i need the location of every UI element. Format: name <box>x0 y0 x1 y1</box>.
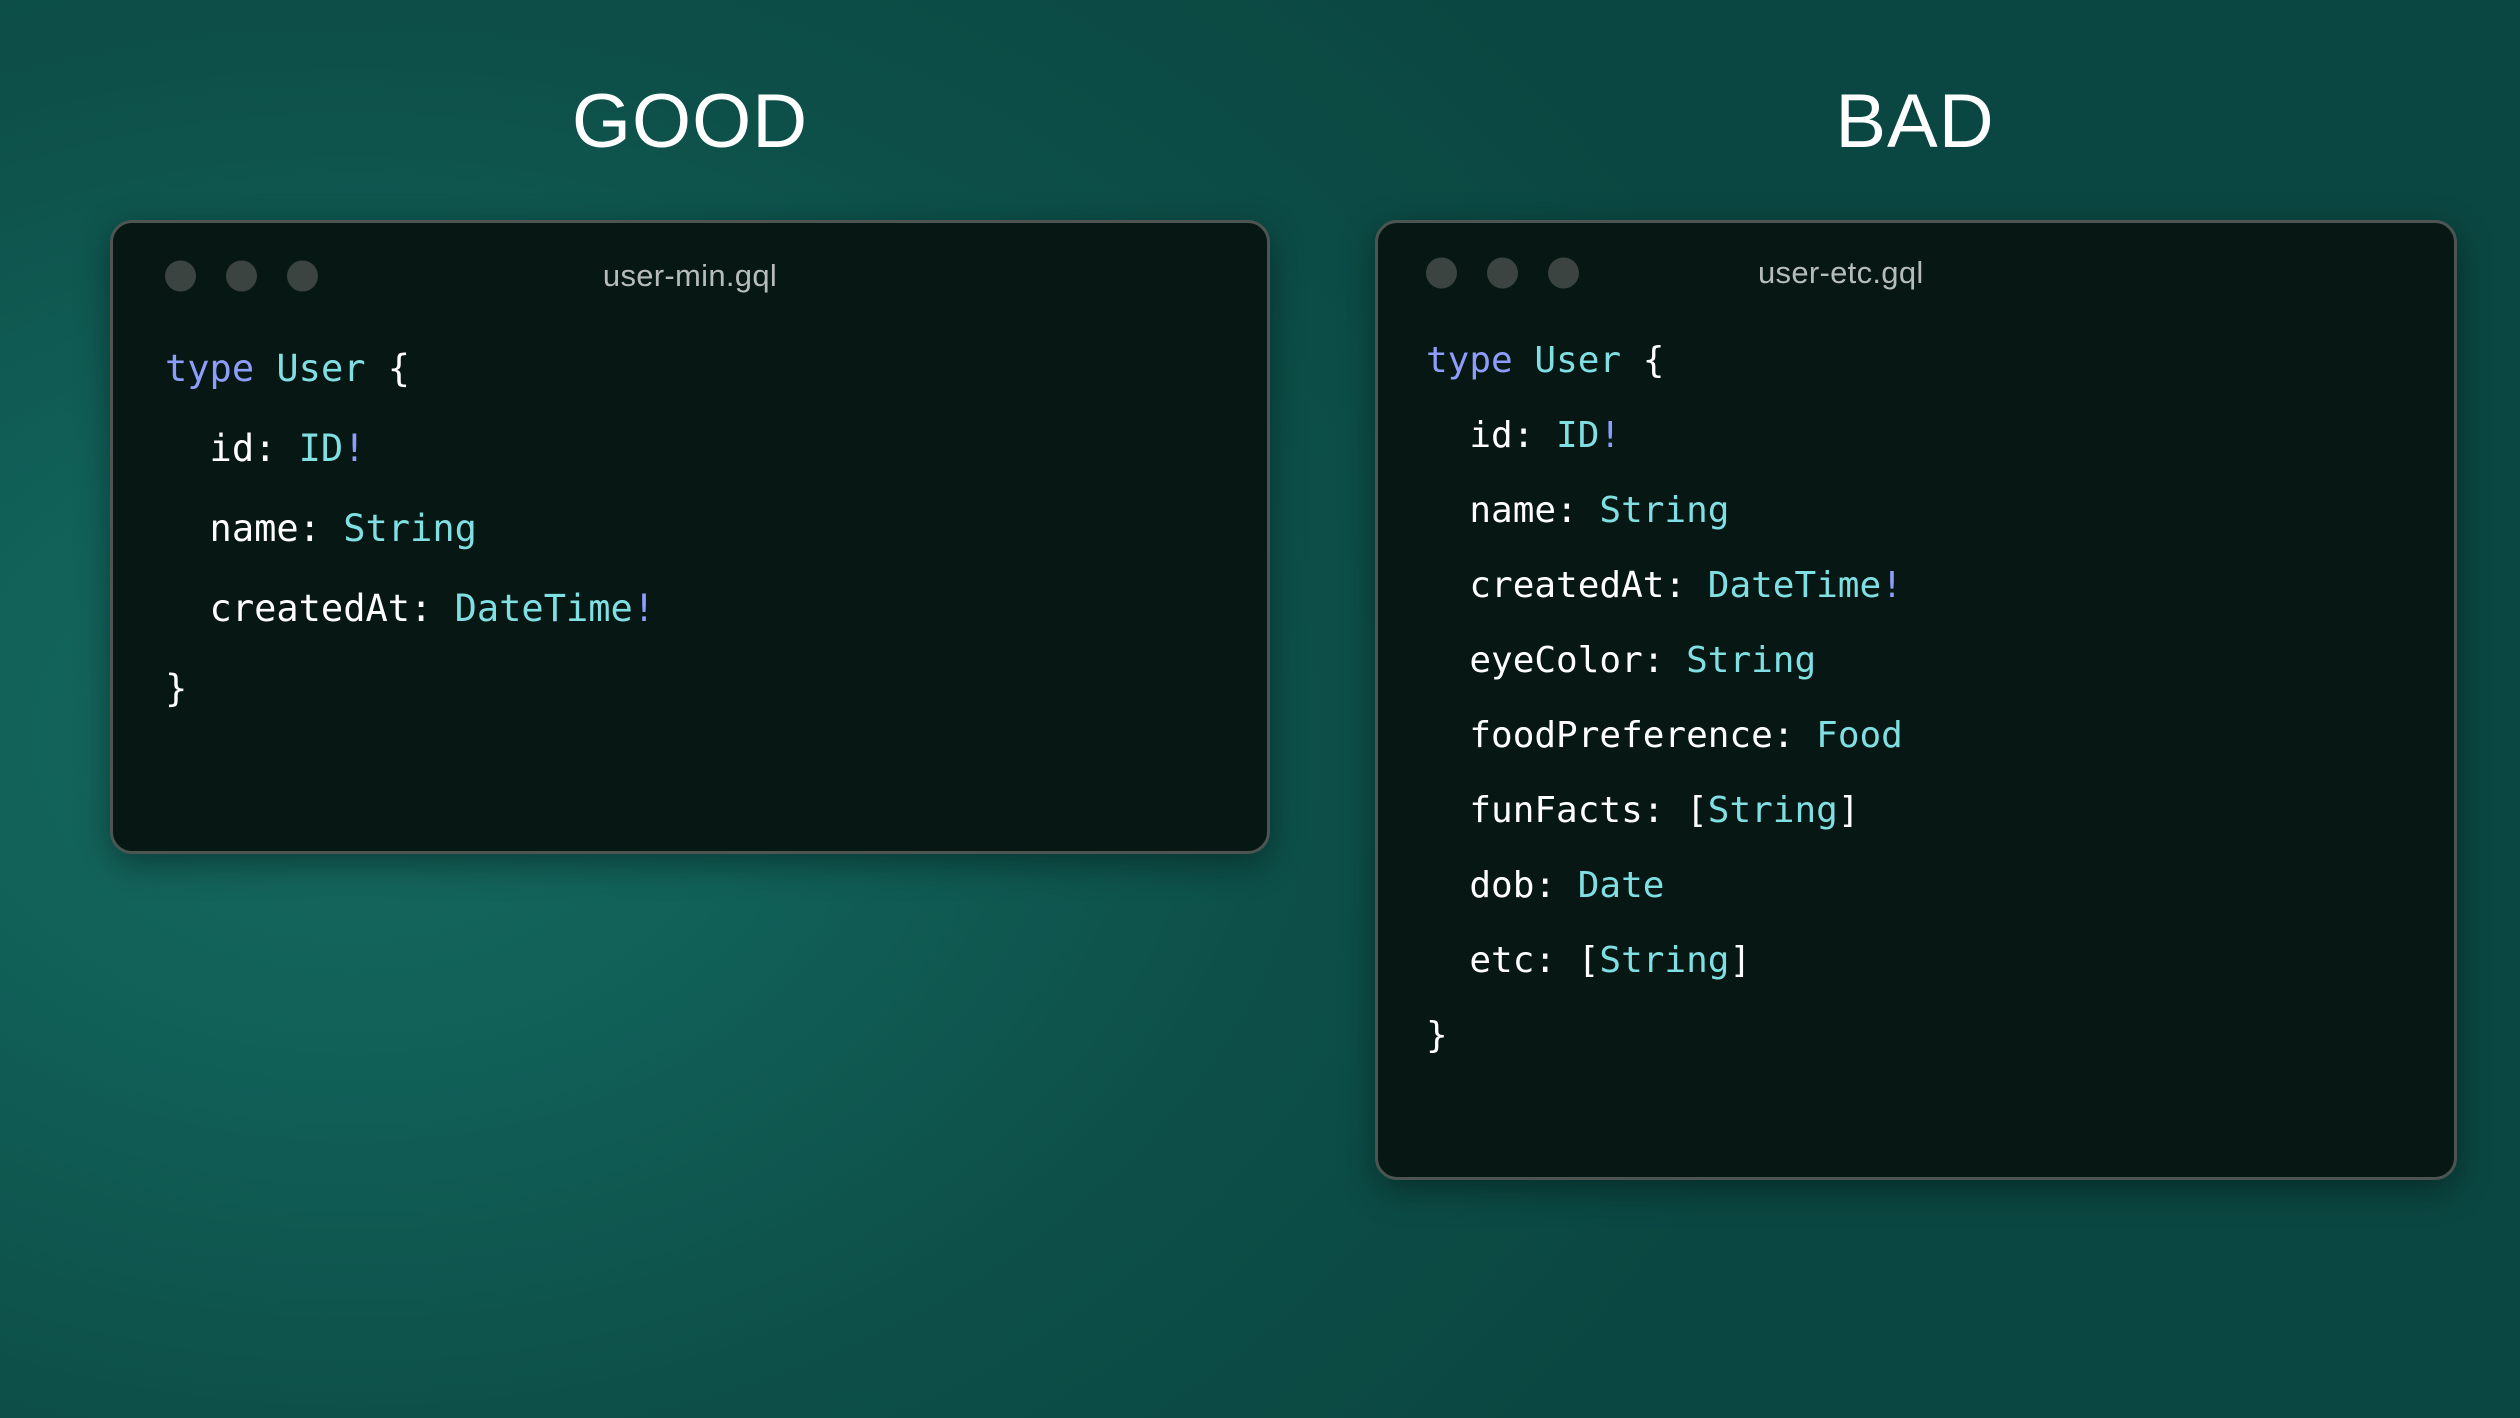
titlebar-bad: user-etc.gql <box>1378 223 2454 323</box>
code-line: type User { <box>165 329 1267 409</box>
filename-bad: user-etc.gql <box>1758 255 1924 291</box>
code-token: ! <box>1881 565 1903 606</box>
code-token: String <box>1686 640 1816 681</box>
code-token: } <box>1426 1015 1448 1056</box>
code-token: String <box>1599 940 1729 981</box>
code-token: ID <box>299 427 344 470</box>
code-token: ] <box>1729 940 1751 981</box>
code-line: name: String <box>1426 473 2454 548</box>
code-token <box>1513 340 1535 381</box>
code-token: String <box>1599 490 1729 531</box>
dot-close-icon[interactable] <box>1426 258 1457 289</box>
code-token <box>254 347 276 390</box>
code-token: { <box>366 347 411 390</box>
code-token: id: <box>1426 415 1556 456</box>
code-line: createdAt: DateTime! <box>165 569 1267 649</box>
code-token: String <box>1708 790 1838 831</box>
code-token: DateTime <box>455 587 633 630</box>
titlebar-good: user-min.gql <box>113 223 1267 329</box>
code-token: String <box>343 507 477 550</box>
code-token: id: <box>165 427 299 470</box>
code-token: createdAt: <box>1426 565 1708 606</box>
code-block-bad: type User { id: ID! name: String created… <box>1378 323 2454 1073</box>
code-token: funFacts: [ <box>1426 790 1708 831</box>
code-line: funFacts: [String] <box>1426 773 2454 848</box>
code-token: type <box>1426 340 1513 381</box>
code-block-good: type User { id: ID! name: String created… <box>113 329 1267 729</box>
code-token: createdAt: <box>165 587 455 630</box>
filename-good: user-min.gql <box>113 258 1267 294</box>
dot-minimize-icon[interactable] <box>1487 258 1518 289</box>
code-token: ! <box>1599 415 1621 456</box>
code-token: User <box>276 347 365 390</box>
code-line: dob: Date <box>1426 848 2454 923</box>
code-line: createdAt: DateTime! <box>1426 548 2454 623</box>
code-token: { <box>1621 340 1664 381</box>
comparison-stage: GOOD BAD user-min.gql type User { id: ID… <box>0 0 2520 1418</box>
heading-bad: BAD <box>1375 84 2455 160</box>
code-line: foodPreference: Food <box>1426 698 2454 773</box>
code-token: Date <box>1578 865 1665 906</box>
code-token: ID <box>1556 415 1599 456</box>
code-token: DateTime <box>1708 565 1881 606</box>
code-line: } <box>165 649 1267 729</box>
code-token: ! <box>633 587 655 630</box>
code-token: etc: [ <box>1426 940 1599 981</box>
code-line: etc: [String] <box>1426 923 2454 998</box>
code-token: name: <box>165 507 343 550</box>
code-token: foodPreference: <box>1426 715 1816 756</box>
code-token: } <box>165 667 187 710</box>
code-token: type <box>165 347 254 390</box>
code-token: ] <box>1838 790 1860 831</box>
code-token: dob: <box>1426 865 1578 906</box>
code-line: } <box>1426 998 2454 1073</box>
heading-good: GOOD <box>110 84 1270 160</box>
code-token: eyeColor: <box>1426 640 1686 681</box>
code-line: eyeColor: String <box>1426 623 2454 698</box>
code-token: Food <box>1816 715 1903 756</box>
dot-maximize-icon[interactable] <box>1548 258 1579 289</box>
code-token: User <box>1534 340 1621 381</box>
code-line: id: ID! <box>1426 398 2454 473</box>
window-dots-bad <box>1426 258 1579 289</box>
code-token: ! <box>343 427 365 470</box>
code-card-bad: user-etc.gql type User { id: ID! name: S… <box>1375 220 2457 1180</box>
code-card-good: user-min.gql type User { id: ID! name: S… <box>110 220 1270 854</box>
code-token: name: <box>1426 490 1599 531</box>
code-line: id: ID! <box>165 409 1267 489</box>
code-line: name: String <box>165 489 1267 569</box>
code-line: type User { <box>1426 323 2454 398</box>
